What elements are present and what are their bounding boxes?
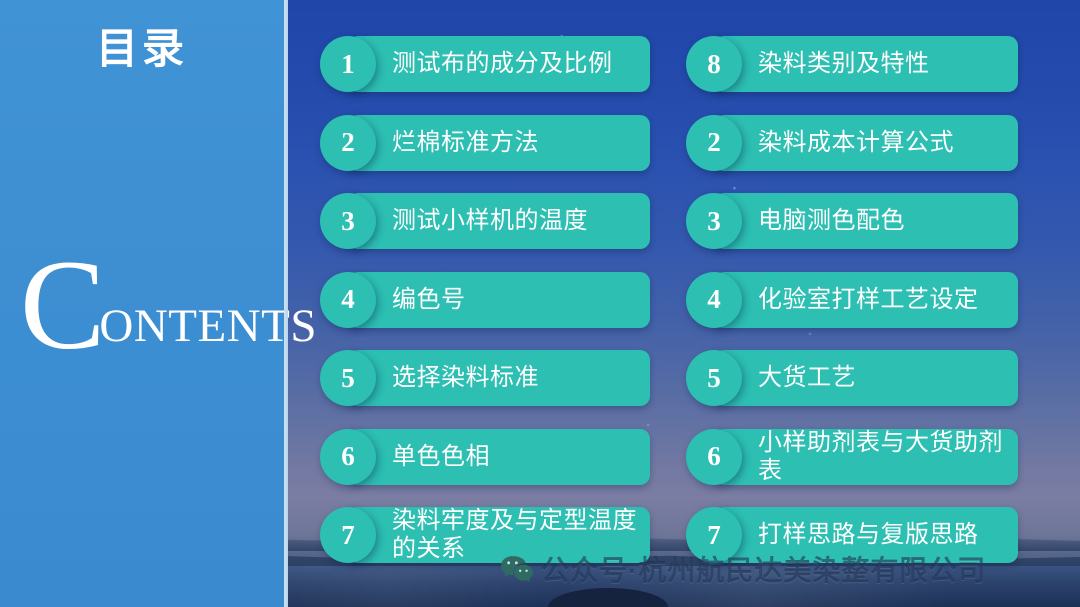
agenda-left-label-3: 测试小样机的温度	[392, 193, 640, 249]
agenda-left-number-badge-1: 1	[320, 36, 376, 92]
agenda-left-number-badge-7: 7	[320, 507, 376, 563]
agenda-item[interactable]: 编色号4	[320, 272, 650, 328]
agenda-left-label-2: 烂棉标准方法	[392, 115, 640, 171]
agenda-right-number-badge-4: 4	[686, 272, 742, 328]
agenda-left-label-1: 测试布的成分及比例	[392, 36, 640, 92]
agenda-right-label-4: 化验室打样工艺设定	[758, 272, 1008, 328]
agenda-item[interactable]: 测试小样机的温度3	[320, 193, 650, 249]
contents-initial-letter: C	[20, 256, 105, 356]
agenda-item[interactable]: 烂棉标准方法2	[320, 115, 650, 171]
watermark: 公众号·杭州航民达美染整有限公司	[500, 549, 986, 589]
watermark-text: 公众号·杭州航民达美染整有限公司	[541, 549, 986, 589]
agenda-item[interactable]: 测试布的成分及比例1	[320, 36, 650, 92]
agenda-item[interactable]: 小样助剂表与大货助剂表6	[686, 429, 1018, 485]
agenda-item[interactable]: 单色色相6	[320, 429, 650, 485]
agenda-column-right: 染料类别及特性8染料成本计算公式2电脑测色配色3化验室打样工艺设定4大货工艺5小…	[686, 0, 1018, 607]
agenda-right-number-badge-6: 6	[686, 429, 742, 485]
title-panel: 目录 C ONTENTS	[0, 0, 284, 607]
agenda-item[interactable]: 染料类别及特性8	[686, 36, 1018, 92]
wechat-icon	[500, 554, 534, 584]
agenda-right-number-badge-1: 8	[686, 36, 742, 92]
agenda-right-number-badge-5: 5	[686, 350, 742, 406]
agenda-item[interactable]: 化验室打样工艺设定4	[686, 272, 1018, 328]
agenda-item[interactable]: 大货工艺5	[686, 350, 1018, 406]
contents-wordmark: C ONTENTS	[12, 252, 284, 356]
agenda-right-label-1: 染料类别及特性	[758, 36, 1008, 92]
agenda-left-label-5: 选择染料标准	[392, 350, 640, 406]
agenda-left-number-badge-3: 3	[320, 193, 376, 249]
agenda-right-number-badge-3: 3	[686, 193, 742, 249]
agenda-left-label-6: 单色色相	[392, 429, 640, 485]
agenda-item[interactable]: 选择染料标准5	[320, 350, 650, 406]
agenda-left-label-4: 编色号	[392, 272, 640, 328]
agenda-left-number-badge-5: 5	[320, 350, 376, 406]
agenda-right-number-badge-2: 2	[686, 115, 742, 171]
agenda-item[interactable]: 染料成本计算公式2	[686, 115, 1018, 171]
agenda-left-number-badge-6: 6	[320, 429, 376, 485]
agenda-left-number-badge-4: 4	[320, 272, 376, 328]
agenda-column-left: 测试布的成分及比例1烂棉标准方法2测试小样机的温度3编色号4选择染料标准5单色色…	[320, 0, 650, 607]
presentation-slide: 目录 C ONTENTS 测试布的成分及比例1烂棉标准方法2测试小样机的温度3编…	[0, 0, 1080, 607]
page-title: 目录	[0, 28, 284, 70]
agenda-right-label-2: 染料成本计算公式	[758, 115, 1008, 171]
agenda-left-number-badge-2: 2	[320, 115, 376, 171]
agenda-right-label-3: 电脑测色配色	[758, 193, 1008, 249]
agenda-right-label-5: 大货工艺	[758, 350, 1008, 406]
panel-divider	[284, 0, 288, 607]
agenda-item[interactable]: 电脑测色配色3	[686, 193, 1018, 249]
agenda-right-label-6: 小样助剂表与大货助剂表	[758, 429, 1008, 485]
